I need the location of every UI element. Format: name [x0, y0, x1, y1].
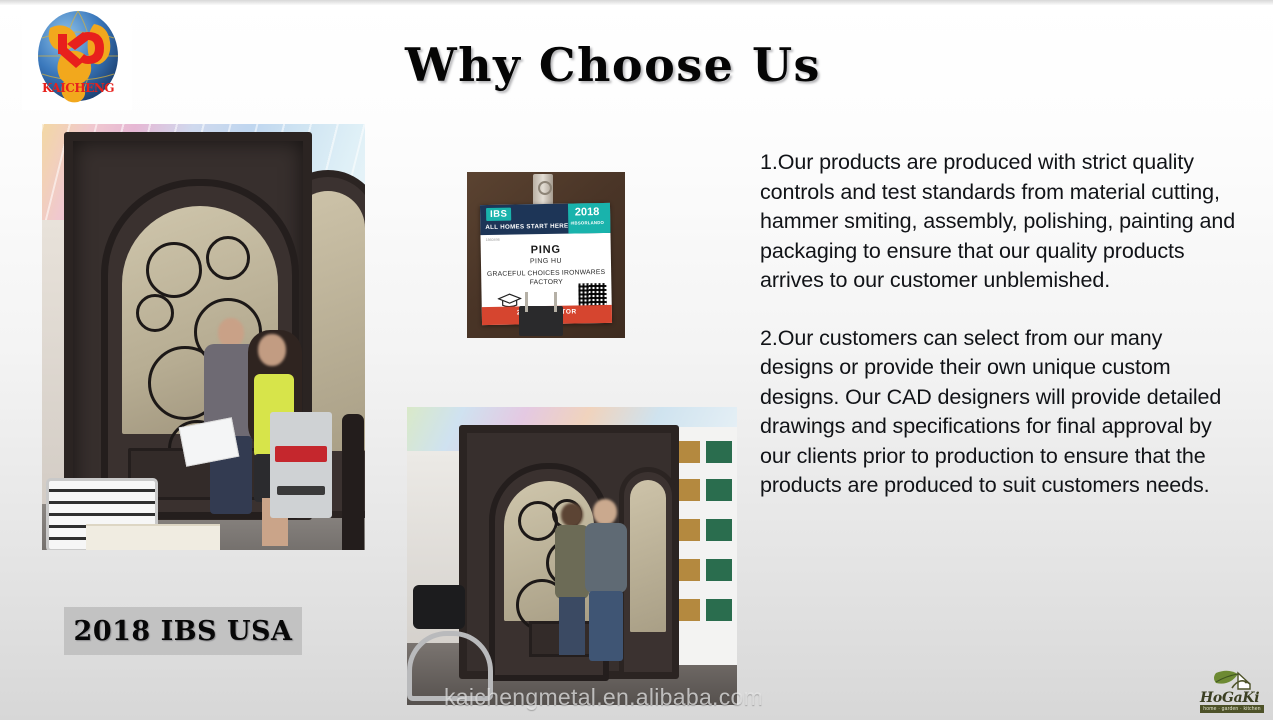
globe-icon: KAICHENG: [32, 8, 124, 104]
leaf-house-icon: [1198, 670, 1262, 692]
badge-year: 2018: [568, 206, 606, 219]
person-back: [555, 503, 589, 655]
badge-full-name: PING HU: [481, 257, 611, 266]
slide-canvas: KAICHENG Why Choose Us: [0, 0, 1273, 720]
event-label-text: 2018 IBS USA: [74, 616, 293, 647]
content-text-column: 1.Our products are produced with strict …: [760, 148, 1240, 501]
binder-clip: [519, 306, 563, 336]
photo-bottom-door: [407, 407, 737, 705]
badge-reg-code: 1860498: [486, 238, 500, 242]
badge-ibs-logo: IBS: [486, 208, 512, 221]
tote-bag: [270, 412, 332, 518]
badge-slogan: ALL HOMES START HERE: [485, 223, 568, 231]
company-logo: KAICHENG: [22, 5, 132, 110]
badge-clip: [533, 174, 553, 208]
open-catalog: [86, 524, 220, 550]
badge-hashtag: #IBSORLANDO: [568, 220, 606, 226]
door-leaf-right: [619, 467, 677, 677]
svg-text:KAICHENG: KAICHENG: [42, 81, 114, 95]
paragraph-2: 2.Our customers can select from our many…: [760, 324, 1240, 501]
badge-header: IBS ALL HOMES START HERE 2018 #IBSORLAND…: [480, 203, 611, 235]
page-title: Why Choose Us: [405, 38, 875, 92]
hogaki-logo: HoGaKi home · garden · kitchen: [1198, 670, 1268, 714]
display-board: [669, 427, 737, 665]
badge-first-name: PING: [481, 243, 611, 257]
person-front: [585, 499, 625, 665]
hogaki-tagline: home · garden · kitchen: [1200, 705, 1264, 713]
event-label-badge: 2018 IBS USA: [64, 607, 302, 655]
iron-post: [342, 414, 364, 550]
photo-left-door: [42, 124, 365, 550]
paragraph-1: 1.Our products are produced with strict …: [760, 148, 1240, 296]
photo-exhibitor-badge: IBS ALL HOMES START HERE 2018 #IBSORLAND…: [467, 172, 625, 338]
watermark-url: kaichengmetal.en.alibaba.com: [444, 684, 844, 714]
luggage: [413, 585, 465, 629]
hogaki-wordmark: HoGaKi: [1200, 690, 1259, 706]
top-divider-strip: [0, 0, 1273, 5]
